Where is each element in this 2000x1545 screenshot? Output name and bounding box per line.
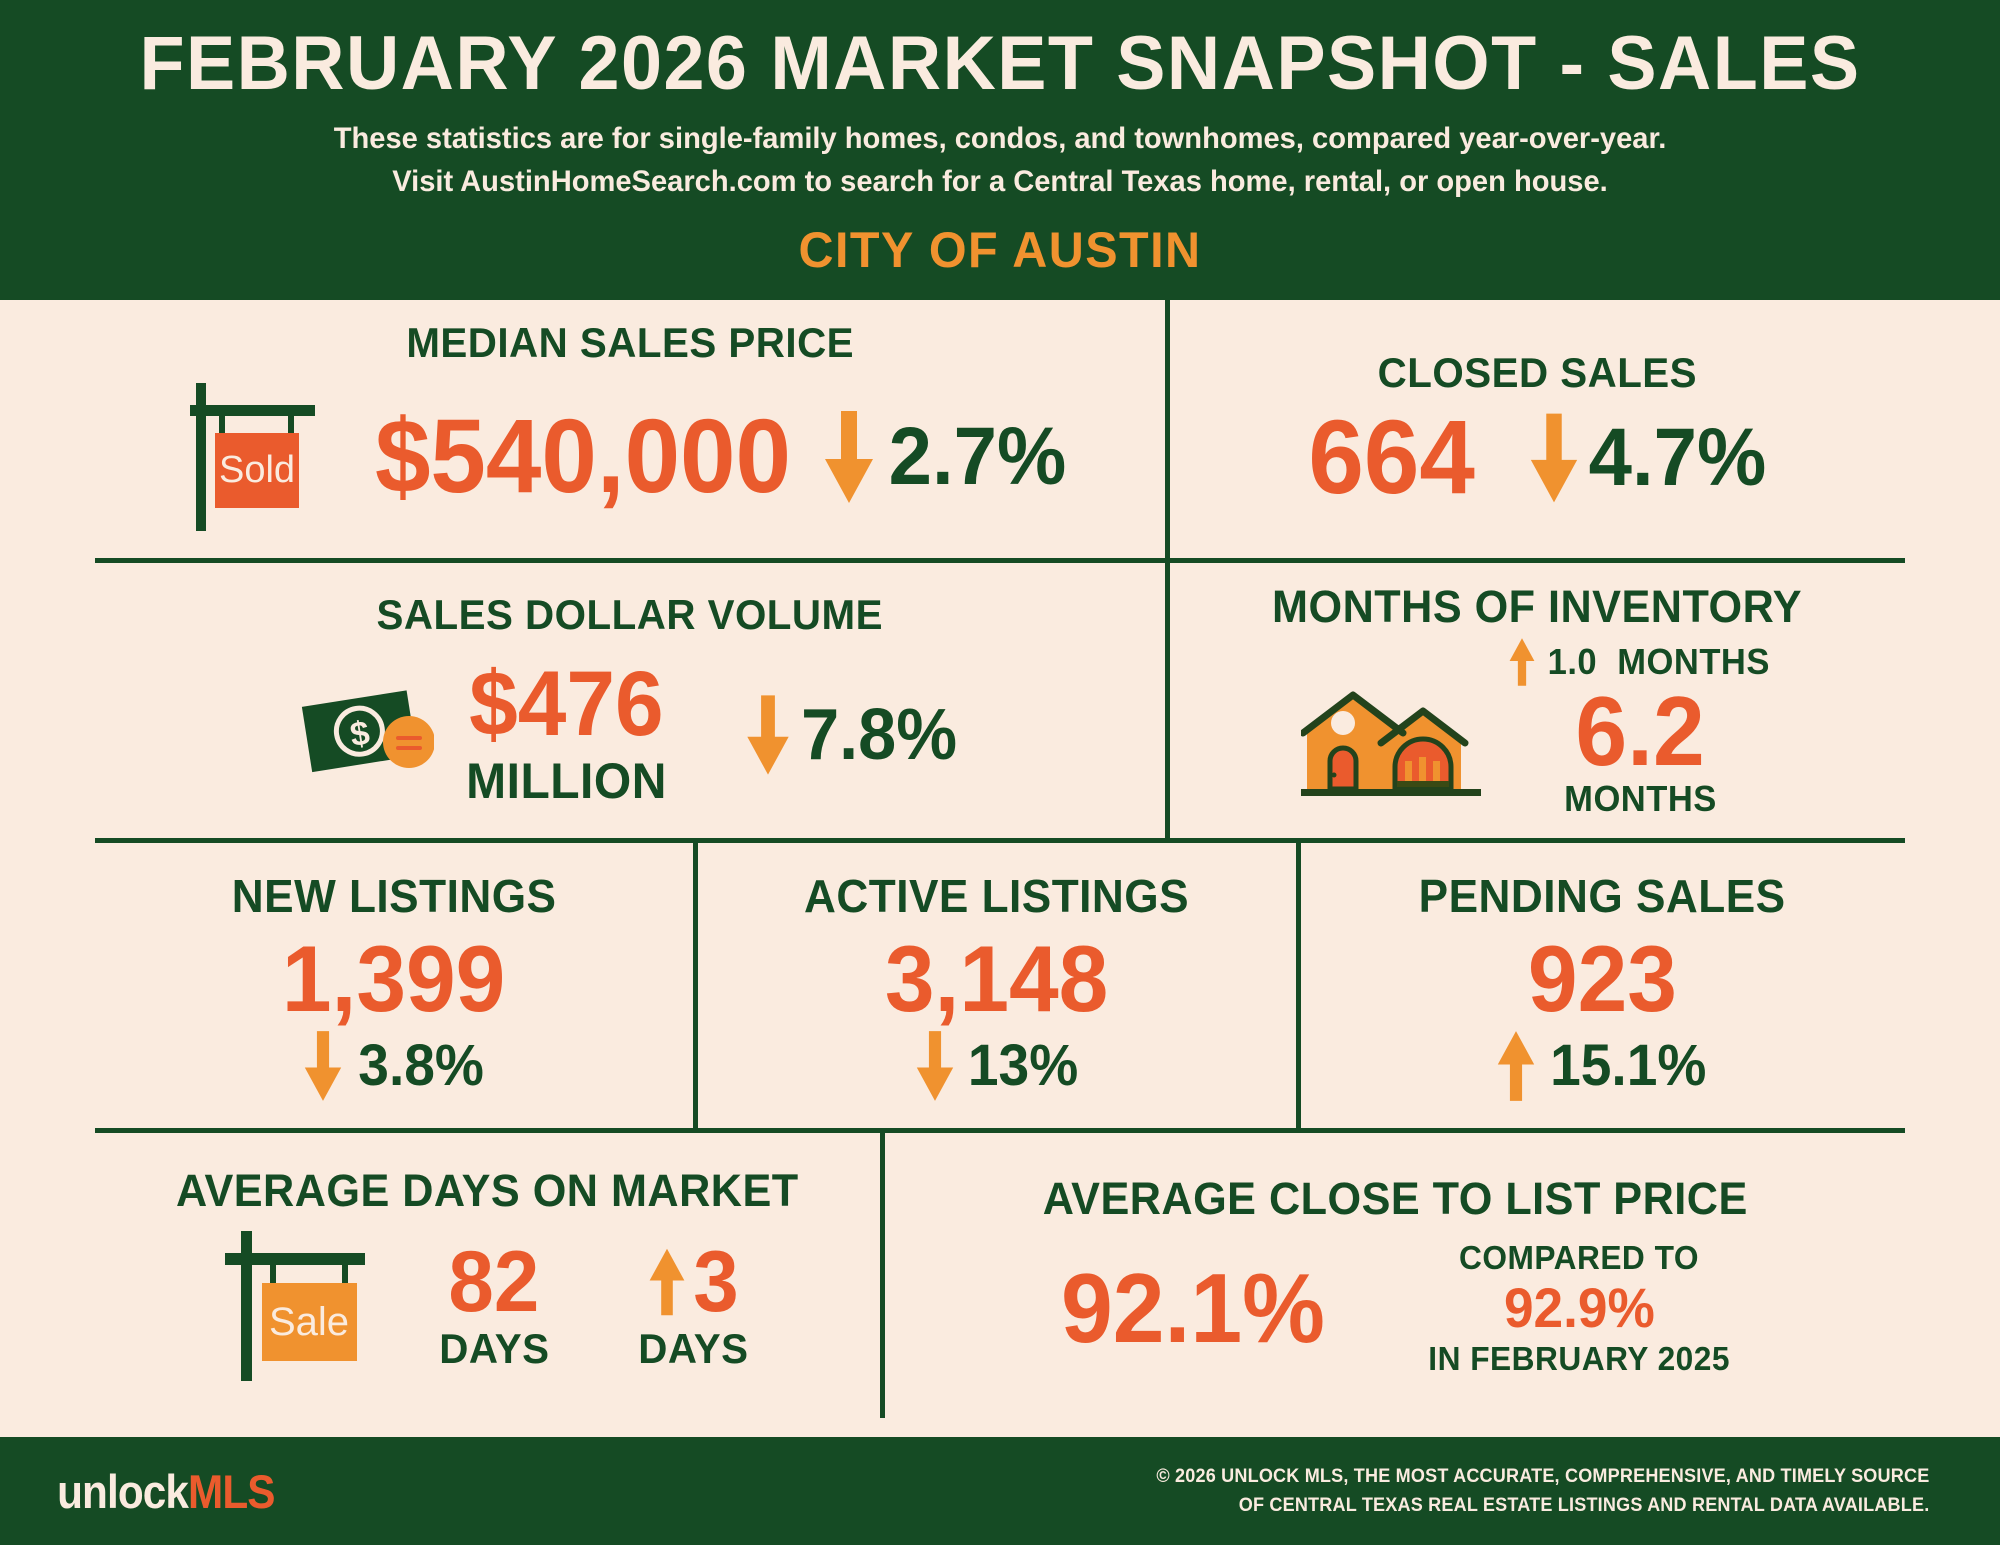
stat-months-of-inventory: MONTHS OF INVENTORY xyxy=(1170,563,1905,838)
stat-closed-sales: CLOSED SALES 664 4.7% xyxy=(1170,300,1905,558)
stat-title: SALES DOLLAR VOLUME xyxy=(377,591,883,639)
stat-unit: DAYS xyxy=(439,1325,549,1373)
stat-pending-sales: PENDING SALES 923 15.1% xyxy=(1301,843,1904,1128)
compare-label: COMPARED TO xyxy=(1459,1239,1699,1277)
stat-value: $476 xyxy=(469,659,663,749)
stat-title: MONTHS OF INVENTORY xyxy=(1273,581,1803,633)
stat-delta: 15.1% xyxy=(1550,1037,1706,1095)
sale-sign-icon: Sale xyxy=(225,1227,385,1387)
stat-title: AVERAGE DAYS ON MARKET xyxy=(176,1165,799,1217)
copyright-line2: OF CENTRAL TEXAS REAL ESTATE LISTINGS AN… xyxy=(1157,1491,1930,1520)
arrow-down-icon xyxy=(301,1030,345,1102)
stat-average-close-to-list-price: AVERAGE CLOSE TO LIST PRICE 92.1% COMPAR… xyxy=(885,1133,1905,1418)
header-subtitle-line2: Visit AustinHomeSearch.com to search for… xyxy=(30,161,1970,204)
stats-body: MEDIAN SALES PRICE Sold $540,000 xyxy=(0,300,2000,1437)
stat-delta: 4.7% xyxy=(1588,417,1766,499)
footer: unlockMLS © 2026 UNLOCK MLS, THE MOST AC… xyxy=(0,1437,2000,1545)
stat-delta-unit: DAYS xyxy=(638,1325,748,1373)
arrow-up-icon xyxy=(1494,1030,1538,1102)
money-bill-icon: $ xyxy=(299,680,434,790)
stat-average-days-on-market: AVERAGE DAYS ON MARKET Sale xyxy=(95,1133,885,1418)
stat-value: 3,148 xyxy=(885,933,1108,1025)
header-subtitle-line1: These statistics are for single-family h… xyxy=(30,118,1970,161)
header: FEBRUARY 2026 MARKET SNAPSHOT - SALES Th… xyxy=(0,0,2000,300)
arrow-down-icon xyxy=(820,411,878,503)
logo-mls-text: MLS xyxy=(188,1465,275,1518)
stat-delta: 2.7% xyxy=(888,416,1066,498)
arrow-up-icon xyxy=(1507,637,1537,687)
stat-value: 664 xyxy=(1309,407,1475,510)
stat-value: 1,399 xyxy=(282,933,505,1025)
stat-value: 92.1% xyxy=(1061,1260,1325,1356)
sold-sign-icon: Sold xyxy=(190,375,340,540)
stat-row-1: MEDIAN SALES PRICE Sold $540,000 xyxy=(95,300,1905,558)
logo-unlock-text: unlock xyxy=(57,1465,188,1518)
stat-value: $540,000 xyxy=(375,406,791,509)
infographic-page: FEBRUARY 2026 MARKET SNAPSHOT - SALES Th… xyxy=(0,0,2000,1545)
arrow-down-icon xyxy=(743,694,793,776)
stat-title: PENDING SALES xyxy=(1419,869,1786,923)
svg-text:Sale: Sale xyxy=(269,1300,349,1344)
stat-value: 923 xyxy=(1528,933,1677,1025)
houses-icon xyxy=(1301,689,1481,809)
stat-median-sales-price: MEDIAN SALES PRICE Sold $540,000 xyxy=(95,300,1170,558)
unlock-mls-logo[interactable]: unlockMLS xyxy=(57,1464,275,1519)
stat-row-4: AVERAGE DAYS ON MARKET Sale xyxy=(95,1128,1905,1418)
arrow-down-icon xyxy=(913,1030,957,1102)
compare-value: 92.9% xyxy=(1504,1281,1655,1336)
stat-row-2: SALES DOLLAR VOLUME $ xyxy=(95,558,1905,838)
stat-new-listings: NEW LISTINGS 1,399 3.8% xyxy=(95,843,698,1128)
stat-title: CLOSED SALES xyxy=(1378,349,1697,397)
stat-title: AVERAGE CLOSE TO LIST PRICE xyxy=(1042,1173,1747,1225)
copyright: © 2026 UNLOCK MLS, THE MOST ACCURATE, CO… xyxy=(1157,1462,1930,1521)
region-label: CITY OF AUSTIN xyxy=(30,221,1970,279)
stat-delta: 3.8% xyxy=(358,1037,484,1095)
page-title: FEBRUARY 2026 MARKET SNAPSHOT - SALES xyxy=(30,25,1970,103)
stat-title: MEDIAN SALES PRICE xyxy=(406,319,854,367)
stat-sales-dollar-volume: SALES DOLLAR VOLUME $ xyxy=(95,563,1170,838)
stat-row-3: NEW LISTINGS 1,399 3.8% ACTIVE LISTINGS … xyxy=(95,838,1905,1128)
stat-delta: 7.8% xyxy=(801,699,957,771)
stat-value: 6.2 xyxy=(1576,683,1705,779)
copyright-line1: © 2026 UNLOCK MLS, THE MOST ACCURATE, CO… xyxy=(1157,1462,1930,1491)
stat-title: NEW LISTINGS xyxy=(232,869,557,923)
stat-active-listings: ACTIVE LISTINGS 3,148 13% xyxy=(698,843,1301,1128)
svg-text:Sold: Sold xyxy=(219,449,295,491)
stat-unit: MONTHS xyxy=(1564,778,1717,820)
compare-period: IN FEBRUARY 2025 xyxy=(1428,1340,1730,1378)
stat-value: 82 xyxy=(449,1240,540,1324)
arrow-down-icon xyxy=(1526,413,1582,503)
stat-delta: 3 xyxy=(693,1240,738,1324)
stat-title: ACTIVE LISTINGS xyxy=(804,869,1189,923)
arrow-up-icon xyxy=(646,1246,688,1318)
stat-unit: MILLION xyxy=(466,752,667,810)
stat-delta: 13% xyxy=(968,1037,1078,1095)
